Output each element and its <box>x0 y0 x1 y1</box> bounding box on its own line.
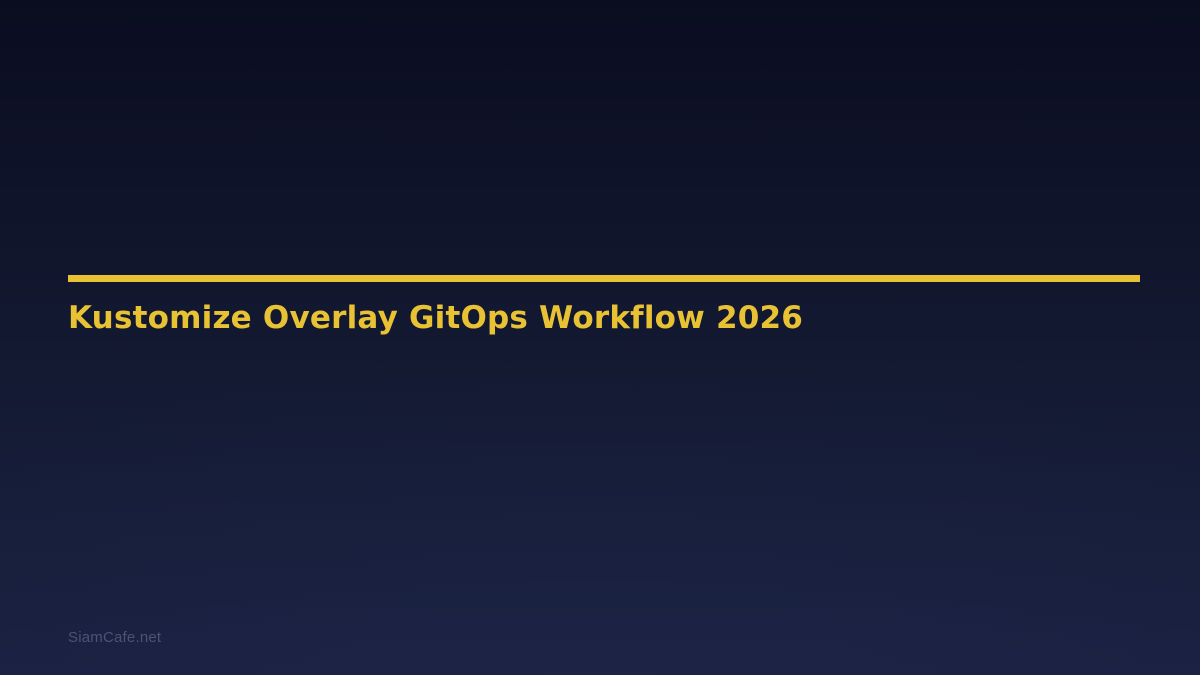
slide-canvas: Kustomize Overlay GitOps Workflow 2026 S… <box>0 0 1200 675</box>
title-block: Kustomize Overlay GitOps Workflow 2026 <box>68 275 1140 337</box>
slide-title: Kustomize Overlay GitOps Workflow 2026 <box>68 301 1140 337</box>
accent-rule <box>68 275 1140 282</box>
watermark-label: SiamCafe.net <box>68 629 161 646</box>
